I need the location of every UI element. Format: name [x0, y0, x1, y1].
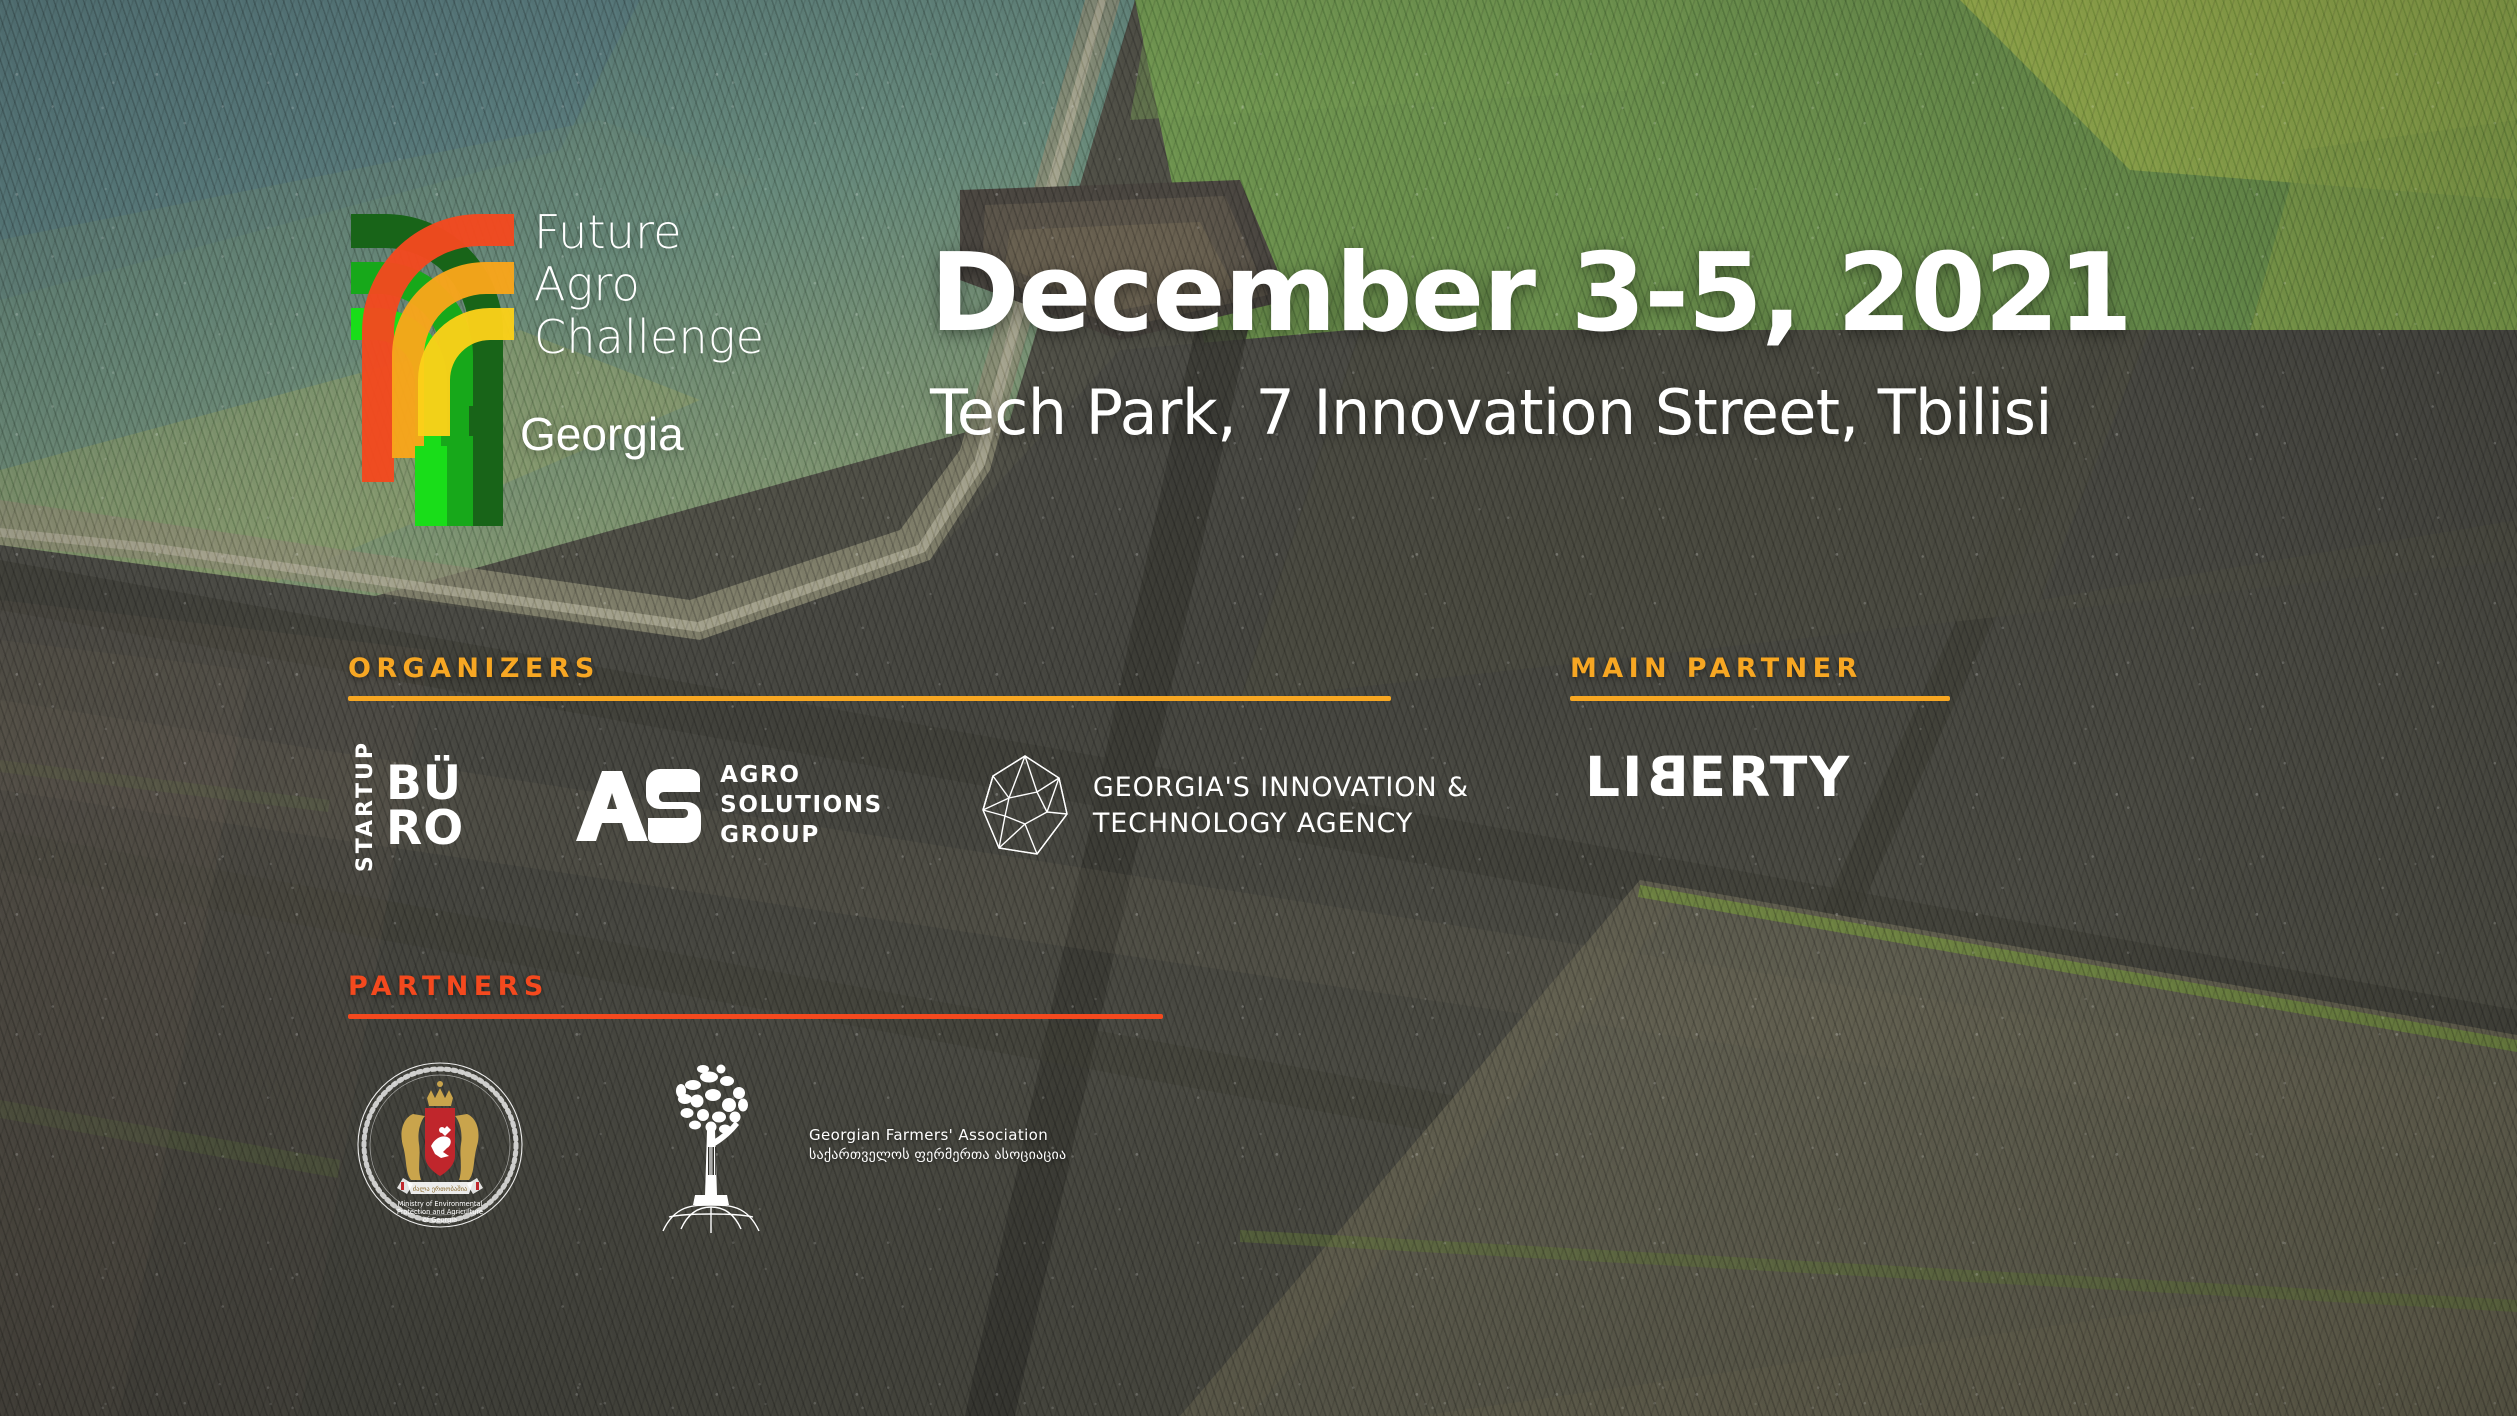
event-dates: December 3-5, 2021 [930, 240, 2131, 348]
gfa-name-en: Georgian Farmers' Association [809, 1125, 1066, 1145]
liberty-flipped-b: B [1645, 750, 1689, 805]
liberty-part1: LI [1585, 750, 1645, 805]
seal-caption-line3: of Georgia [423, 1216, 457, 1224]
section-header-partners: PARTNERS [348, 973, 1163, 1019]
organizers-rule [348, 696, 1391, 701]
gita-line2: TECHNOLOGY AGENCY [1093, 806, 1469, 842]
startup-buro-line1: BÜ [386, 761, 464, 806]
future-agro-challenge-mark-icon [345, 196, 520, 526]
gita-line1: GEORGIA'S INNOVATION & [1093, 770, 1469, 806]
logo-georgian-farmers-association[interactable]: Georgian Farmers' Association საქართველო… [647, 1055, 1066, 1235]
seal-caption-line1: Ministry of Environmental [398, 1200, 483, 1208]
logo-georgias-innovation-technology-agency[interactable]: GEORGIA'S INNOVATION & TECHNOLOGY AGENCY [979, 752, 1469, 860]
logo-ministry-of-environmental-protection-and-agriculture[interactable]: ძალა ერთობაშია Ministry of Environmental… [355, 1060, 525, 1230]
partner-logo-row: ძალა ერთობაშია Ministry of Environmental… [355, 1055, 1066, 1235]
as-monogram-icon [572, 765, 704, 847]
event-venue: Tech Park, 7 Innovation Street, Tbilisi [930, 382, 2052, 444]
logo-startup-buro[interactable]: STARTUP BÜ RO [355, 740, 464, 872]
asg-word-solutions: SOLUTIONS [720, 791, 883, 821]
brand-country: Georgia [520, 407, 764, 461]
main-partner-rule [1570, 696, 1950, 701]
brand-line-future: Future [534, 206, 764, 258]
logo-liberty[interactable]: LIBERTY [1585, 750, 1851, 805]
farmers-tree-icon [647, 1055, 807, 1235]
section-header-organizers: ORGANIZERS [348, 655, 1391, 701]
asg-word-group: GROUP [720, 821, 883, 851]
polygon-gem-icon [979, 752, 1075, 860]
gfa-name-ka: საქართველოს ფერმერთა ასოციაცია [809, 1146, 1066, 1165]
liberty-part2: ERTY [1688, 750, 1851, 805]
georgia-coat-of-arms-seal: ძალა ერთობაშია Ministry of Environmental… [355, 1060, 525, 1230]
logo-agro-solutions-group[interactable]: AGRO SOLUTIONS GROUP [572, 761, 883, 851]
brand-logo: Future Agro Challenge Georgia [345, 196, 764, 526]
partners-label: PARTNERS [348, 973, 1163, 1000]
startup-buro-vertical-word: STARTUP [355, 740, 377, 872]
partners-rule [348, 1014, 1163, 1019]
svg-text:ძალა ერთობაშია: ძალა ერთობაშია [413, 1184, 467, 1193]
startup-buro-line2: RO [386, 806, 464, 851]
main-partner-logo-row: LIBERTY [1585, 750, 1851, 805]
brand-line-challenge: Challenge [534, 311, 764, 363]
event-poster: Future Agro Challenge Georgia December 3… [0, 0, 2517, 1416]
brand-line-agro: Agro [534, 258, 764, 310]
main-partner-label: MAIN PARTNER [1570, 655, 1950, 682]
seal-caption-line2: Protection and Agriculture [397, 1208, 483, 1216]
asg-word-agro: AGRO [720, 761, 883, 791]
organizer-logo-row: STARTUP BÜ RO AGRO SOLUTIONS GROUP [355, 740, 1469, 872]
section-header-main-partner: MAIN PARTNER [1570, 655, 1950, 701]
organizers-label: ORGANIZERS [348, 655, 1391, 682]
